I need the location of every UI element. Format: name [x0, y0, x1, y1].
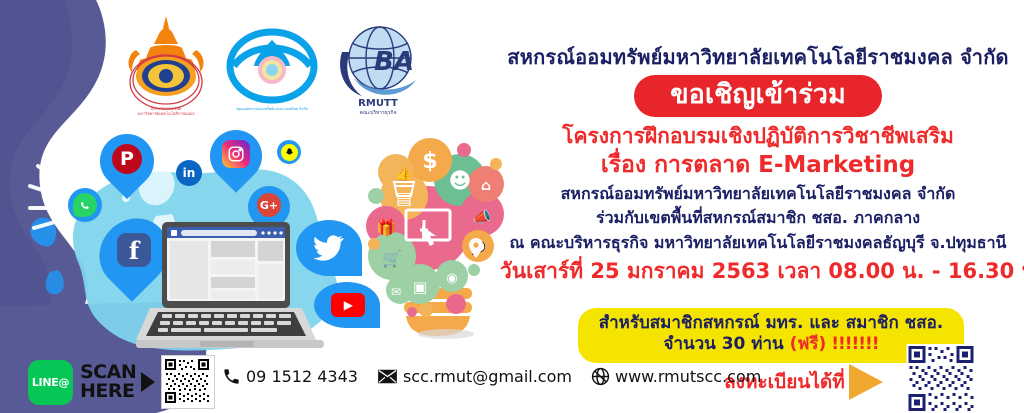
svg-text:▤: ▤ [396, 189, 412, 209]
invite-pill: ขอเชิญเข้าร่วม [634, 75, 882, 117]
pinterest-pin: P [100, 134, 154, 188]
svg-text:RMUTT: RMUTT [358, 98, 398, 109]
globe-icon [591, 367, 610, 386]
line-logo-label: LINE@ [32, 376, 69, 389]
organization-line: สหกรณ์ออมทรัพย์มหาวิทยาลัยเทคโนโลยีราชมง… [500, 46, 1016, 69]
scan-line-2: HERE [80, 382, 136, 401]
contact-phone-text: 09 1512 4343 [246, 367, 358, 386]
promotional-banner: สหกรณ์ออมทรัพย์ มหาวิทยาลัยเทคโนโลยีราชม… [0, 0, 1024, 413]
svg-text:◉: ◉ [446, 271, 457, 286]
headline-column: สหกรณ์ออมทรัพย์มหาวิทยาลัยเทคโนโลยีราชมง… [500, 46, 1016, 284]
contact-row: 09 1512 4343 scc.rmut@gmail.com www.rmut… [222, 367, 761, 386]
linkedin-icon: in [176, 160, 202, 186]
qr-code-register-icon[interactable] [896, 344, 986, 413]
note-free-label: (ฟรี) [790, 334, 827, 354]
contact-website-text: www.rmutscc.com [615, 367, 761, 386]
sub-line-1: สหกรณ์ออมทรัพย์มหาวิทยาลัยเทคโนโลยีราชมง… [500, 183, 1016, 205]
project-line: โครงการฝึกอบรมเชิงปฏิบัติการวิชาชีพเสริม [500, 124, 1016, 149]
svg-text:📣: 📣 [473, 208, 492, 226]
svg-text:☻: ☻ [449, 169, 472, 194]
note-quota: จำนวน 30 ท่าน [663, 334, 789, 354]
note-exclamations: !!!!!!! [826, 334, 878, 354]
line-logo-icon: LINE@ [28, 360, 73, 405]
sub-line-2: ร่วมกับเขตพื้นที่สหกรณ์สมาชิก ชสอ. ภาคกล… [500, 207, 1016, 229]
scan-here-label: SCAN HERE [80, 363, 136, 400]
svg-text:$: $ [422, 149, 437, 174]
contact-website: www.rmutscc.com [591, 367, 761, 386]
date-time-line: วันเสาร์ที่ 25 มกราคม 2563 เวลา 08.00 น.… [500, 258, 1016, 284]
arrow-right-icon [141, 372, 155, 392]
rmut-royal-crest-logo: สหกรณ์ออมทรัพย์ มหาวิทยาลัยเทคโนโลยีราชม… [120, 14, 212, 122]
svg-text:▣: ▣ [413, 278, 427, 296]
cooperative-blue-logo: ชุมนุมสหกรณ์ออมทรัพย์แห่งประเทศไทย จำกัด [224, 22, 320, 122]
arrow-right-icon [849, 364, 883, 400]
svg-text:👍: 👍 [395, 165, 412, 182]
svg-text:⌂: ⌂ [481, 178, 491, 194]
contact-email-text: scc.rmut@gmail.com [403, 367, 572, 386]
svg-text:✉: ✉ [391, 285, 401, 299]
snapchat-icon [277, 140, 301, 164]
phone-icon [222, 367, 241, 386]
contact-phone: 09 1512 4343 [222, 367, 358, 386]
envelope-icon [377, 368, 398, 385]
instagram-pin [210, 130, 262, 182]
note-line-1: สำหรับสมาชิกสหกรณ์ มทร. และ สมาชิก ชสอ. [588, 313, 954, 334]
svg-text:ชุมนุมสหกรณ์ออมทรัพย์แห่งประเท: ชุมนุมสหกรณ์ออมทรัพย์แห่งประเทศไทย จำกัด [236, 106, 308, 112]
svg-text:คณะบริหารธุรกิจ: คณะบริหารธุรกิจ [359, 109, 396, 116]
svg-text:BA: BA [374, 47, 414, 77]
contact-email: scc.rmut@gmail.com [377, 367, 572, 386]
svg-text:🎁: 🎁 [376, 218, 396, 237]
svg-text:🛒: 🛒 [382, 249, 402, 268]
line-scan-block[interactable]: LINE@ SCAN HERE [28, 355, 215, 409]
laptop-illustration [136, 222, 364, 354]
svg-text:มหาวิทยาลัยเทคโนโลยีราชมงคล: มหาวิทยาลัยเทคโนโลยีราชมงคล [137, 111, 195, 116]
qr-code-line-icon[interactable] [161, 355, 215, 409]
whatsapp-icon [68, 188, 102, 222]
logo-row: สหกรณ์ออมทรัพย์ มหาวิทยาลัยเทคโนโลยีราชม… [120, 12, 410, 122]
sub-line-3: ณ คณะบริหารธุรกิจ มหาวิทยาลัยเทคโนโลยีรา… [500, 232, 1016, 254]
topic-line: เรื่อง การตลาด E-Marketing [500, 152, 1016, 180]
bba-rmutt-logo: BA RMUTT คณะบริหารธุรกิจ [332, 18, 424, 122]
